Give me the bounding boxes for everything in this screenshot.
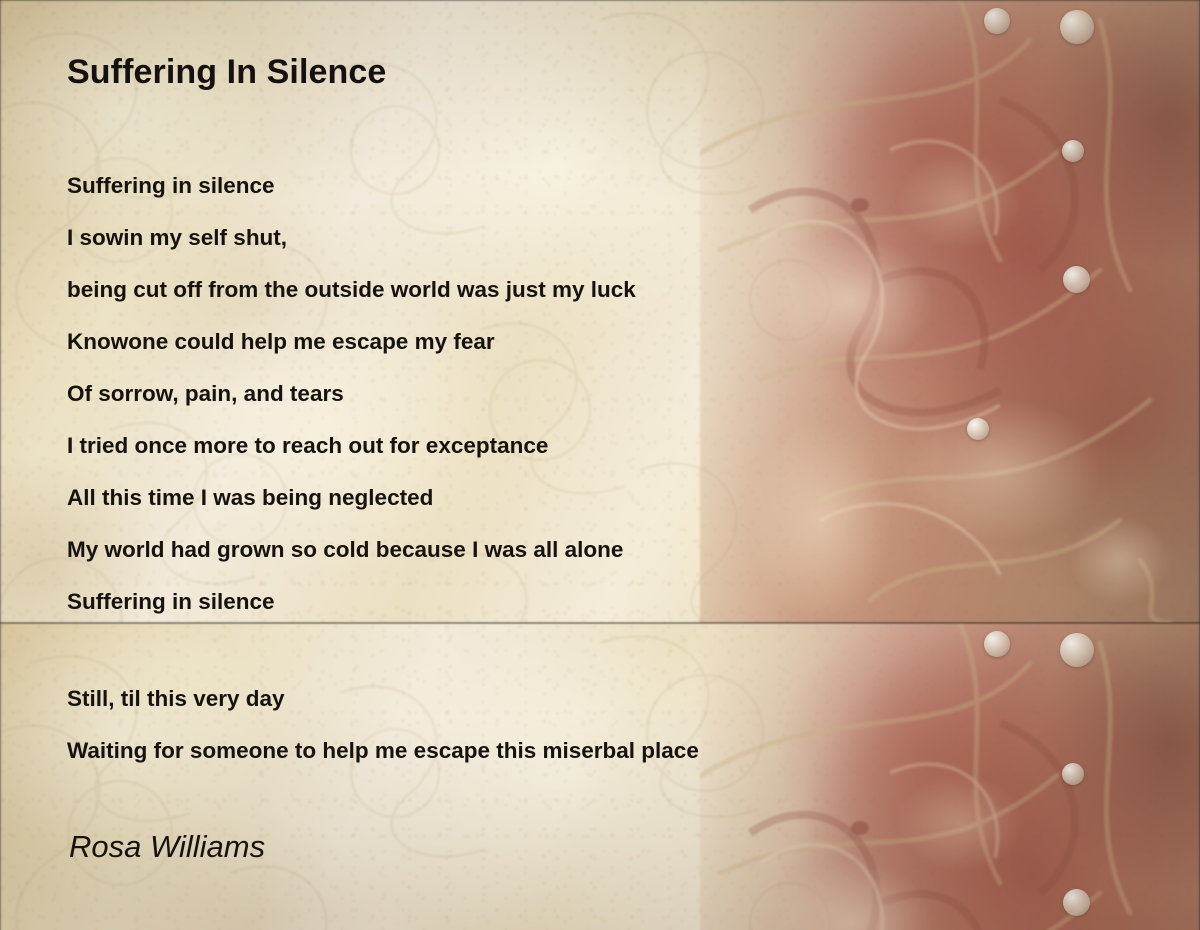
poem-line: I sowin my self shut, — [67, 212, 636, 264]
poem-stanza-2: Still, til this very day Waiting for som… — [67, 673, 699, 777]
poem-line: Waiting for someone to help me escape th… — [67, 725, 699, 777]
poem-line: Still, til this very day — [67, 673, 699, 725]
page-title: Suffering In Silence — [67, 53, 386, 92]
poem-line: My world had grown so cold because I was… — [67, 524, 636, 576]
poem-line: Suffering in silence — [67, 160, 636, 212]
poem-line: being cut off from the outside world was… — [67, 264, 636, 316]
poem-line: Knowone could help me escape my fear — [67, 316, 636, 368]
poem-image-card: Suffering In Silence Suffering in silenc… — [0, 0, 1200, 930]
poem-line: I tried once more to reach out for excep… — [67, 420, 636, 472]
poem-line: Of sorrow, pain, and tears — [67, 368, 636, 420]
poem-line: Suffering in silence — [67, 576, 636, 628]
author-name: Rosa Williams — [69, 829, 265, 865]
poem-line: All this time I was being neglected — [67, 472, 636, 524]
poem-text-layer: Suffering In Silence Suffering in silenc… — [0, 0, 1200, 930]
poem-stanza-1: Suffering in silence I sowin my self shu… — [67, 160, 636, 628]
